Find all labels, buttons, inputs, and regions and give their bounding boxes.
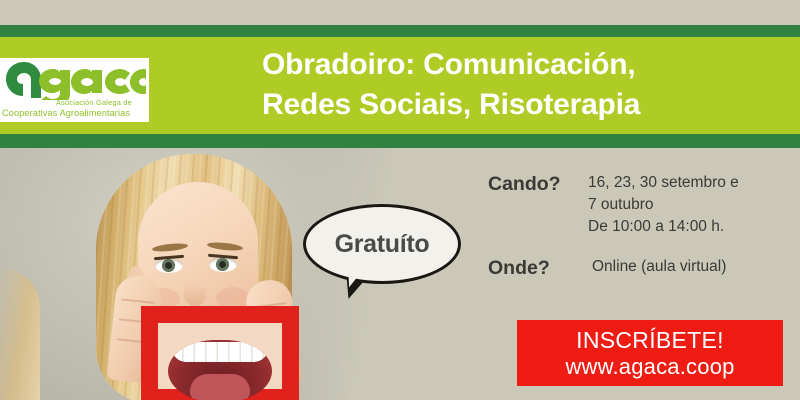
event-when-row: Cando? 16, 23, 30 setembro e 7 outubro D… bbox=[488, 172, 788, 238]
photo-hair-wisp bbox=[0, 268, 40, 400]
poster-root: Asociación Galega de Cooperativas Agroal… bbox=[0, 0, 800, 400]
speech-bubble-label: Gratuíto bbox=[303, 204, 461, 284]
photo-iris-left bbox=[162, 259, 175, 272]
header-bottom-dark-stripe bbox=[0, 134, 800, 148]
cta-url[interactable]: www.agaca.coop bbox=[565, 354, 734, 380]
when-hours: De 10:00 a 14:00 h. bbox=[588, 216, 739, 238]
photo-teeth bbox=[172, 342, 268, 362]
where-label: Onde? bbox=[488, 256, 592, 280]
when-label: Cando? bbox=[488, 172, 588, 196]
page-title-line1: Obradoiro: Comunicación, bbox=[262, 45, 782, 85]
cta-title: INSCRÍBETE! bbox=[576, 327, 724, 354]
header-top-dark-stripe bbox=[0, 25, 800, 37]
register-cta-button[interactable]: INSCRÍBETE! www.agaca.coop bbox=[517, 320, 783, 386]
when-dates-cont: 7 outubro bbox=[588, 194, 739, 216]
when-value: 16, 23, 30 setembro e 7 outubro De 10:00… bbox=[588, 172, 739, 238]
event-details: Cando? 16, 23, 30 setembro e 7 outubro D… bbox=[488, 172, 788, 298]
finger-crease bbox=[121, 298, 155, 303]
gratuito-speech-bubble: Gratuíto bbox=[303, 204, 461, 284]
event-where-row: Onde? Online (aula virtual) bbox=[488, 256, 788, 280]
page-title: Obradoiro: Comunicación, Redes Sociais, … bbox=[262, 45, 782, 125]
photo-nose bbox=[184, 276, 206, 306]
agaca-logo-mark bbox=[4, 60, 146, 100]
photo-mouth bbox=[168, 340, 272, 400]
where-value: Online (aula virtual) bbox=[592, 256, 726, 278]
photo-iris-right bbox=[216, 258, 229, 271]
page-title-line2: Redes Sociais, Risoterapia bbox=[262, 85, 782, 125]
photo-tongue bbox=[190, 374, 250, 400]
when-dates: 16, 23, 30 setembro e bbox=[588, 172, 739, 194]
top-beige-strip bbox=[0, 0, 800, 25]
logo-subtitle-line1: Asociación Galega de bbox=[56, 98, 149, 107]
agaca-logo[interactable]: Asociación Galega de Cooperativas Agroal… bbox=[0, 58, 149, 122]
logo-subtitle-line2: Cooperativas Agroalimentarias bbox=[2, 108, 149, 118]
